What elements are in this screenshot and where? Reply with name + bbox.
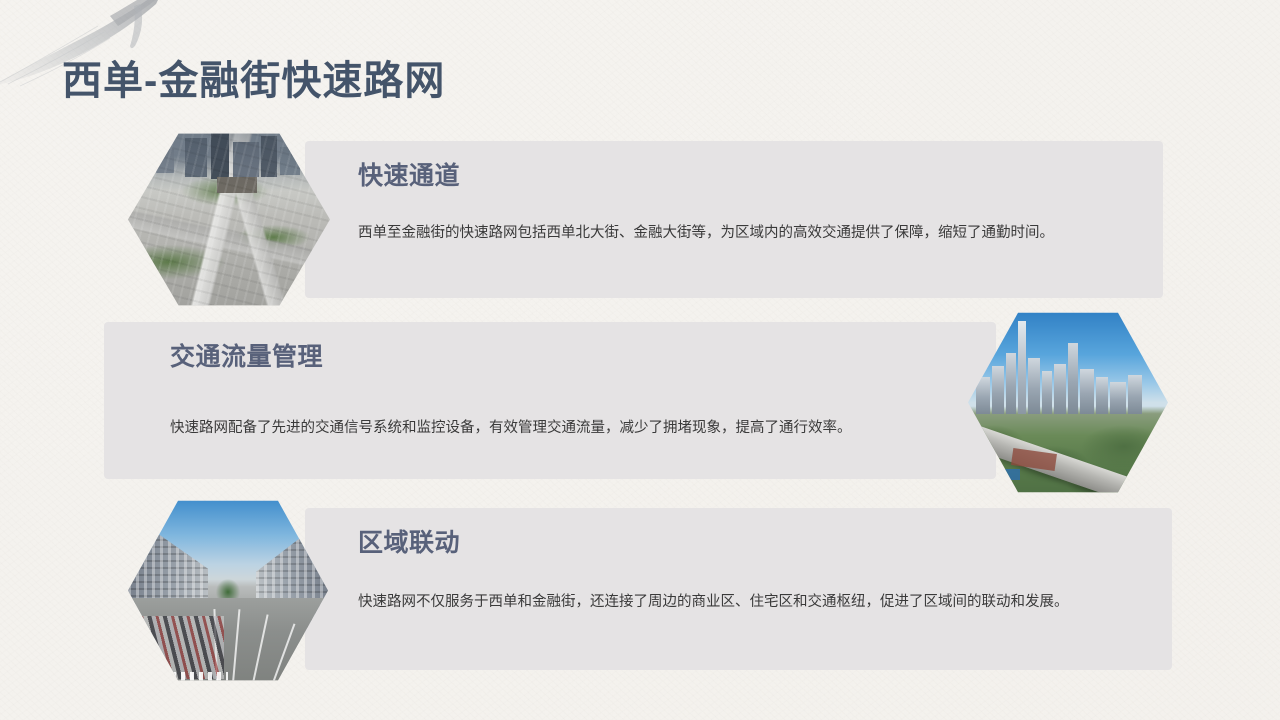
card-2-body: 快速路网配备了先进的交通信号系统和监控设备，有效管理交通流量，减少了拥堵现象，提…: [170, 414, 975, 443]
building-block: [261, 136, 277, 177]
photo-fill: [128, 131, 330, 308]
photo-fill: [128, 498, 328, 683]
building-block: [185, 138, 207, 177]
card-3-body: 快速路网不仅服务于西单和金融街，还连接了周边的商业区、住宅区和交通枢纽，促进了区…: [358, 588, 1123, 617]
skyline-building: [1068, 343, 1078, 413]
card-2-heading: 交通流量管理: [170, 337, 323, 373]
skyline-building: [1006, 353, 1016, 414]
content-card-1: 快速通道 西单至金融街的快速路网包括西单北大街、金融大街等，为区域内的高效交通提…: [305, 141, 1163, 298]
highway-interchange-photo: [128, 131, 330, 308]
content-card-2: 交通流量管理 快速路网配备了先进的交通信号系统和监控设备，有效管理交通流量，减少…: [104, 322, 996, 479]
skyline-tower: [1018, 321, 1026, 414]
building-block: [233, 142, 259, 177]
slide-canvas: 西单-金融街快速路网 快速通道 西单至金融街的快速路网包括西单北大街、金融大街等…: [0, 0, 1280, 720]
building-block: [211, 133, 229, 179]
city-skyline-viaduct-photo: [968, 310, 1168, 495]
city-street-traffic-photo: [128, 498, 328, 683]
card-1-body: 西单至金融街的快速路网包括西单北大街、金融大街等，为区域内的高效交通提供了保障，…: [358, 219, 1118, 248]
crosswalk: [136, 672, 228, 683]
blue-roof-cluster: [1000, 469, 1020, 480]
building-block: [217, 177, 257, 193]
building-block: [280, 147, 300, 175]
page-title: 西单-金融街快速路网: [62, 48, 445, 106]
card-1-heading: 快速通道: [358, 156, 460, 192]
photo-fill: [968, 310, 1168, 495]
building-block: [156, 149, 174, 174]
traffic-queue: [132, 616, 224, 679]
card-3-heading: 区域联动: [358, 523, 460, 559]
content-card-3: 区域联动 快速路网不仅服务于西单和金融街，还连接了周边的商业区、住宅区和交通枢纽…: [305, 508, 1172, 670]
